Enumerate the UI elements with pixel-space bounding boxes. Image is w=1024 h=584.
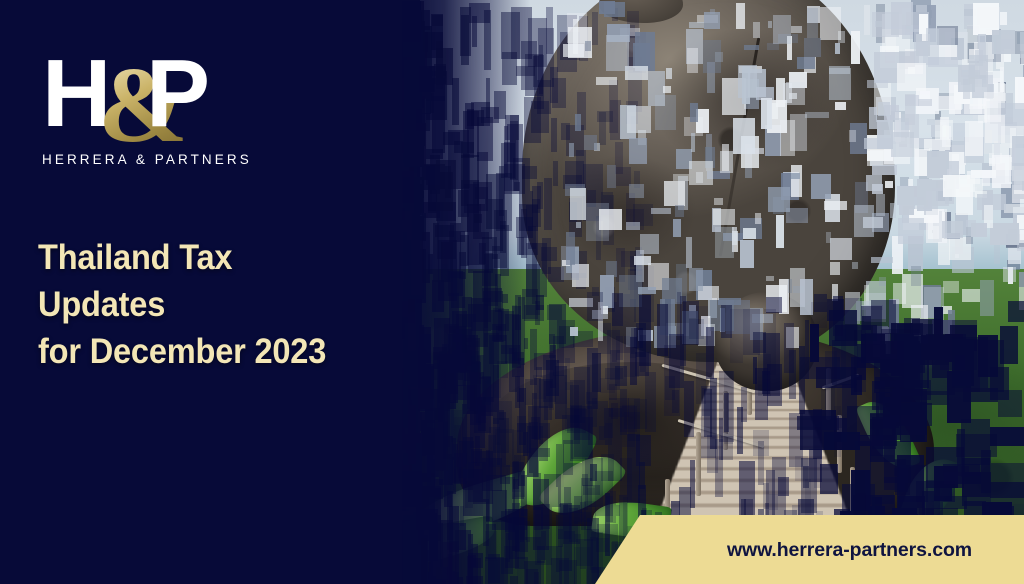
boardwalk-post [837, 415, 842, 473]
boardwalk-post [723, 391, 728, 449]
boardwalk-post [696, 432, 701, 496]
title-line-2: for December 2023 [38, 328, 354, 375]
secondary-boulder [715, 292, 818, 391]
boardwalk-post [826, 368, 831, 421]
logo-wordmark: HERRERA & PARTNERS [42, 152, 252, 167]
website-url[interactable]: www.herrera-partners.com [727, 539, 972, 562]
balanced-boulder [522, 0, 896, 362]
h-and-p-monogram: H & P [42, 56, 232, 144]
logo-letter-p: P [146, 50, 208, 138]
title-line-1: Thailand Tax Updates [38, 238, 232, 324]
marketing-banner: H & P HERRERA & PARTNERS Thailand Tax Up… [0, 0, 1024, 584]
navy-photo-fade [400, 0, 530, 584]
page-title: Thailand Tax Updates for December 2023 [38, 234, 354, 375]
logo[interactable]: H & P HERRERA & PARTNERS [42, 56, 232, 176]
boulder-texture [522, 0, 896, 362]
